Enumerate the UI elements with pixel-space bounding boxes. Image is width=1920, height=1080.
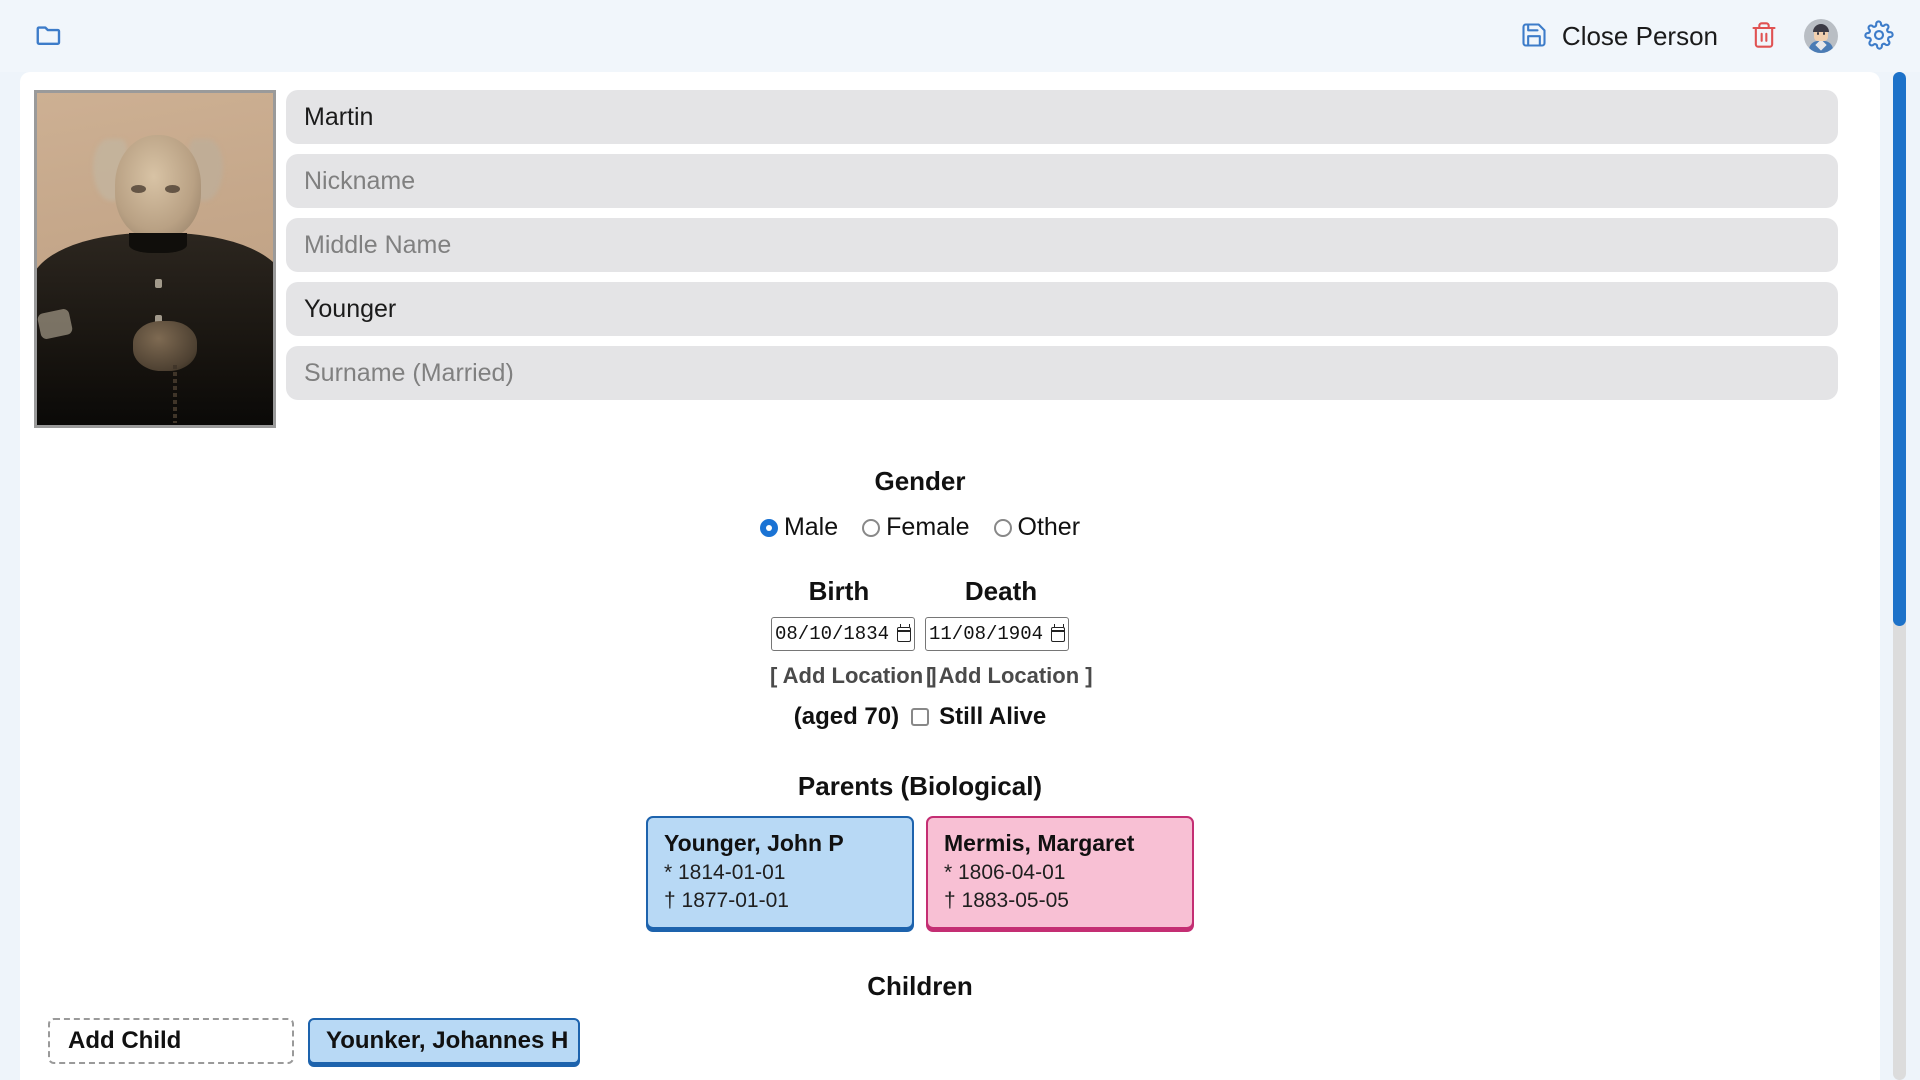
life-event-locations: [ Add Location ] [ Add Location ] xyxy=(20,663,1820,689)
avatar-eye-left xyxy=(1817,32,1819,35)
add-child-button[interactable]: Add Child xyxy=(48,1018,294,1064)
person-photo[interactable] xyxy=(34,90,276,428)
still-alive-label: Still Alive xyxy=(939,703,1046,731)
top-toolbar: Close Person xyxy=(0,0,1920,72)
calendar-icon[interactable] xyxy=(897,627,911,642)
gender-option-male[interactable]: Male xyxy=(760,513,838,542)
life-event-dates: 08/10/1834 11/08/1904 xyxy=(20,617,1820,651)
surname-married-input[interactable] xyxy=(286,346,1838,400)
vertical-scrollbar-track[interactable] xyxy=(1893,72,1906,1080)
age-text: (aged 70) xyxy=(794,703,899,731)
middle-name-input[interactable] xyxy=(286,218,1838,272)
birth-date-value: 08/10/1834 xyxy=(775,623,889,645)
floppy-save-icon xyxy=(1520,21,1548,52)
gender-label-male: Male xyxy=(784,513,838,542)
death-header: Death xyxy=(925,576,1077,607)
radio-other[interactable] xyxy=(994,519,1012,537)
nickname-input[interactable] xyxy=(286,154,1838,208)
open-folder-button[interactable] xyxy=(30,16,68,57)
person-detail-panel: Gender Male Female Other Birth xyxy=(20,72,1880,1080)
parent-card-mother[interactable]: Mermis, Margaret * 1806-04-01 † 1883-05-… xyxy=(926,816,1194,929)
parent-death: † 1883-05-05 xyxy=(944,889,1178,913)
parent-card-father[interactable]: Younger, John P * 1814-01-01 † 1877-01-0… xyxy=(646,816,914,929)
child-card[interactable]: Younker, Johannes H xyxy=(308,1018,580,1064)
gear-icon xyxy=(1864,20,1894,53)
photo-head xyxy=(115,135,201,239)
radio-female[interactable] xyxy=(862,519,880,537)
parent-name: Mermis, Margaret xyxy=(944,830,1178,857)
gender-label-other: Other xyxy=(1018,513,1081,542)
surname-input[interactable] xyxy=(286,282,1838,336)
vertical-scrollbar-thumb[interactable] xyxy=(1893,72,1906,626)
gender-title: Gender xyxy=(20,466,1820,497)
still-alive-checkbox[interactable] xyxy=(911,708,929,726)
gender-label-female: Female xyxy=(886,513,969,542)
add-birth-location-button[interactable]: [ Add Location ] xyxy=(770,663,914,689)
age-row: (aged 70) Still Alive xyxy=(20,703,1820,731)
photo-eye-right xyxy=(165,185,180,193)
photo-collar xyxy=(129,233,187,253)
photo-hands xyxy=(133,321,197,371)
header-spacer xyxy=(915,576,925,607)
gender-section: Gender Male Female Other xyxy=(20,466,1880,542)
parent-birth: * 1806-04-01 xyxy=(944,861,1178,885)
close-person-label: Close Person xyxy=(1562,21,1718,52)
identity-row xyxy=(20,72,1880,428)
first-name-input[interactable] xyxy=(286,90,1838,144)
add-death-location-button[interactable]: [ Add Location ] xyxy=(926,663,1070,689)
user-avatar[interactable] xyxy=(1804,19,1838,53)
life-events-section: Birth Death 08/10/1834 11/08/1904 [ Add … xyxy=(20,576,1880,731)
death-date-input[interactable]: 11/08/1904 xyxy=(925,617,1069,651)
photo-eye-left xyxy=(131,185,146,193)
toolbar-right-group: Close Person xyxy=(1514,16,1898,57)
parent-name: Younger, John P xyxy=(664,830,898,857)
gender-option-female[interactable]: Female xyxy=(862,513,969,542)
avatar-eye-right xyxy=(1823,32,1825,35)
calendar-icon[interactable] xyxy=(1051,627,1065,642)
close-person-button[interactable]: Close Person xyxy=(1514,17,1724,56)
trash-icon xyxy=(1750,21,1778,52)
photo-chain xyxy=(173,365,177,423)
toolbar-left-group xyxy=(30,16,68,57)
avatar-hair xyxy=(1813,24,1829,32)
gender-option-other[interactable]: Other xyxy=(994,513,1081,542)
children-list: Add Child Younker, Johannes H xyxy=(20,1018,1820,1064)
birth-date-input[interactable]: 08/10/1834 xyxy=(771,617,915,651)
death-date-value: 11/08/1904 xyxy=(929,623,1043,645)
photo-button-upper xyxy=(155,279,162,288)
app-root: Close Person xyxy=(0,0,1920,1080)
parents-cards: Younger, John P * 1814-01-01 † 1877-01-0… xyxy=(20,816,1820,929)
gender-options: Male Female Other xyxy=(20,513,1820,542)
parent-birth: * 1814-01-01 xyxy=(664,861,898,885)
name-field-group xyxy=(276,90,1880,428)
parents-section: Parents (Biological) Younger, John P * 1… xyxy=(20,771,1880,929)
folder-icon xyxy=(34,20,64,53)
children-section: Children Add Child Younker, Johannes H xyxy=(20,971,1880,1064)
children-title: Children xyxy=(20,971,1820,1002)
delete-person-button[interactable] xyxy=(1746,17,1782,56)
settings-button[interactable] xyxy=(1860,16,1898,57)
life-event-headers: Birth Death xyxy=(20,576,1820,607)
birth-header: Birth xyxy=(763,576,915,607)
radio-male[interactable] xyxy=(760,519,778,537)
parents-title: Parents (Biological) xyxy=(20,771,1820,802)
parent-death: † 1877-01-01 xyxy=(664,889,898,913)
still-alive-toggle[interactable]: Still Alive xyxy=(911,703,1046,731)
